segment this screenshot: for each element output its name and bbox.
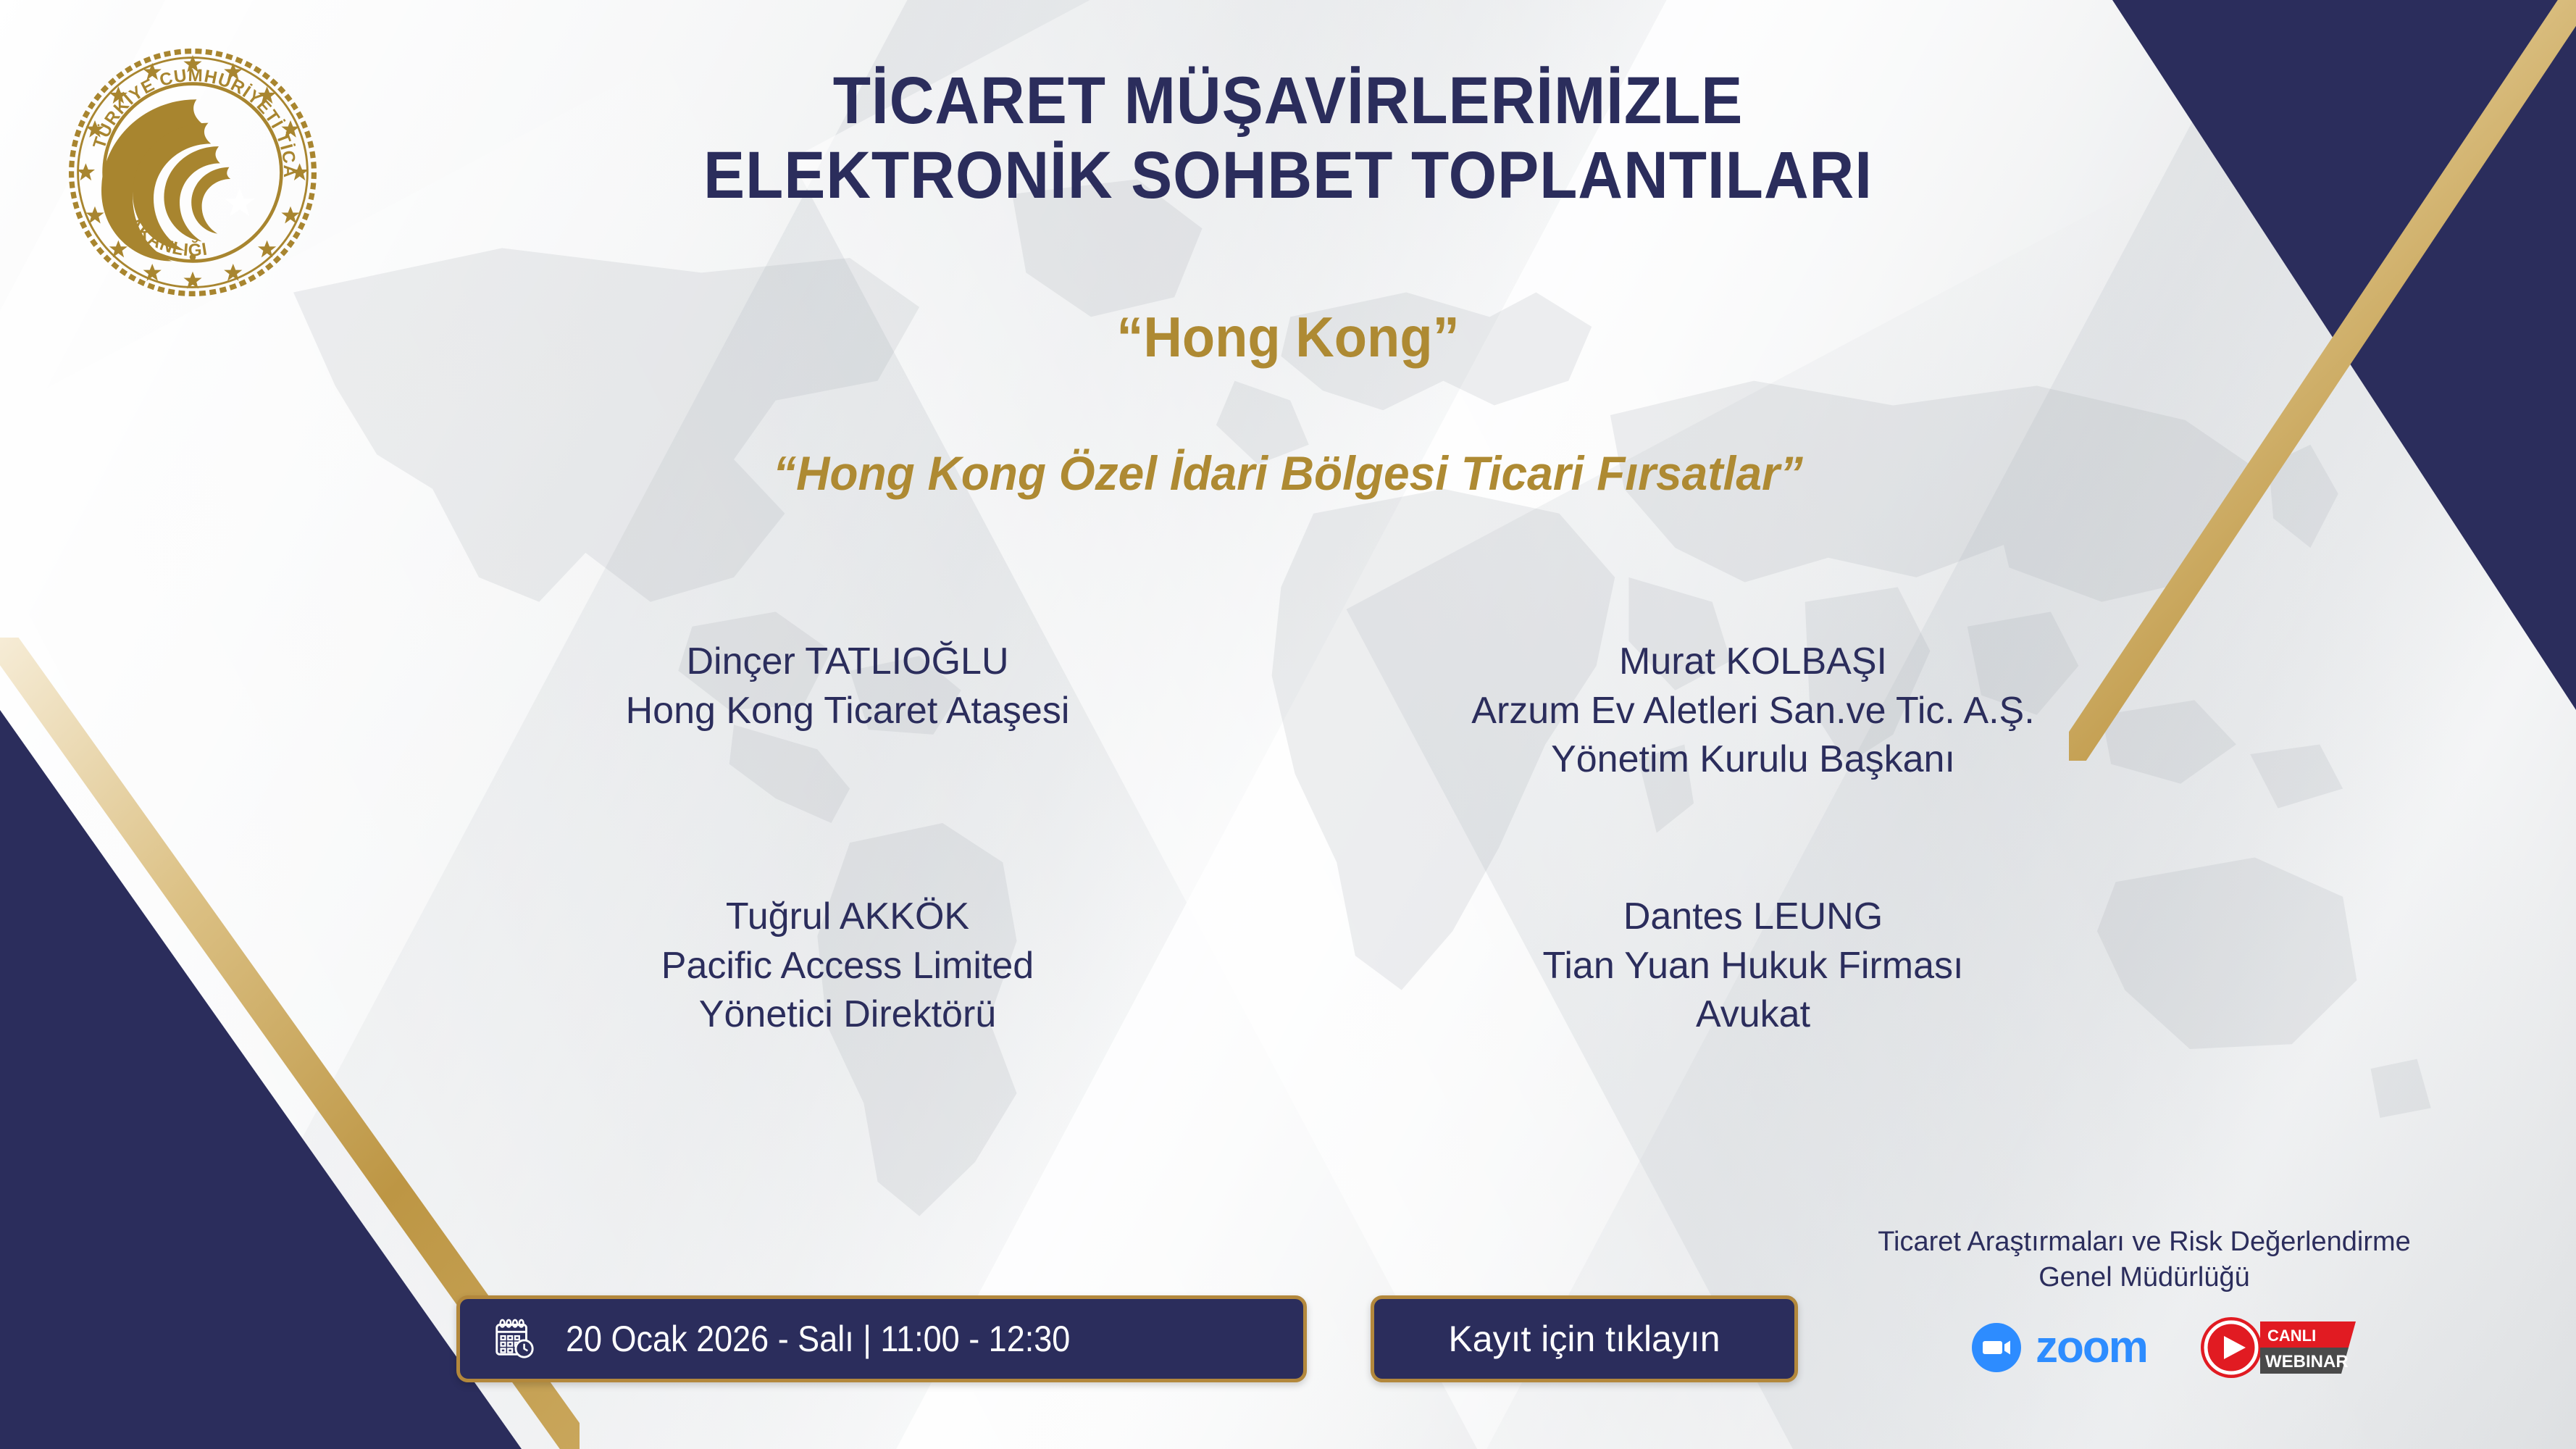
calendar-clock-icon (492, 1316, 537, 1362)
speaker-role: Avukat (1391, 990, 2115, 1040)
speaker-name: Dantes LEUNG (1391, 893, 2115, 942)
department-name: Ticaret Araştırmaları ve Risk Değerlendi… (1826, 1224, 2463, 1295)
webinar-poster: TÜRKİYE CUMHURİYETİ TİCARET BAKANLIĞI Tİ… (0, 0, 2576, 1449)
title-line-1: TİCARET MÜŞAVİRLERİMİZLE (833, 64, 1744, 138)
speaker-org: Tian Yuan Hukuk Firması (1391, 942, 2115, 991)
event-date-text: 20 Ocak 2026 - Salı | 11:00 - 12:30 (566, 1318, 1070, 1360)
department-line-2: Genel Müdürlüğü (1826, 1260, 2463, 1295)
zoom-camera-icon (1970, 1321, 2023, 1374)
speaker-org: Pacific Access Limited (522, 942, 1174, 991)
register-button-label: Kayıt için tıklayın (1448, 1318, 1720, 1360)
canli-webinar-badge: CANLI WEBINAR (2198, 1313, 2364, 1382)
speaker-org: Arzum Ev Aletleri San.ve Tic. A.Ş. (1391, 687, 2115, 736)
subtitle-topic: “Hong Kong Özel İdari Bölgesi Ticari Fır… (38, 446, 2537, 501)
register-button[interactable]: Kayıt için tıklayın (1371, 1295, 1798, 1382)
department-line-1: Ticaret Araştırmaları ve Risk Değerlendi… (1826, 1224, 2463, 1260)
zoom-wordmark: zoom (2036, 1325, 2147, 1370)
speaker-role: Yönetim Kurulu Başkanı (1391, 735, 2115, 785)
speaker-name: Dinçer TATLIOĞLU (522, 638, 1174, 687)
speaker-name: Tuğrul AKKÖK (522, 893, 1174, 942)
poster-title: TİCARET MÜŞAVİRLERİMİZLE ELEKTRONİK SOHB… (90, 64, 2485, 213)
speaker-card: Dinçer TATLIOĞLU Hong Kong Ticaret Ataşe… (522, 638, 1174, 735)
zoom-logo: zoom (1970, 1321, 2147, 1374)
svg-text:WEBINAR: WEBINAR (2265, 1352, 2349, 1371)
speaker-role: Yönetici Direktörü (522, 990, 1174, 1040)
event-date-pill: 20 Ocak 2026 - Salı | 11:00 - 12:30 (456, 1295, 1307, 1382)
title-line-2: ELEKTRONİK SOHBET TOPLANTILARI (90, 138, 2485, 213)
subtitle-country: “Hong Kong” (64, 304, 2512, 370)
speaker-card: Murat KOLBAŞI Arzum Ev Aletleri San.ve T… (1391, 638, 2115, 785)
speaker-name: Murat KOLBAŞI (1391, 638, 2115, 687)
play-circle-icon (2201, 1317, 2262, 1378)
speaker-card: Tuğrul AKKÖK Pacific Access Limited Yöne… (522, 893, 1174, 1040)
platform-logos: zoom CANLI WEBINAR (1970, 1304, 2391, 1391)
speaker-org: Hong Kong Ticaret Ataşesi (522, 687, 1174, 736)
svg-text:CANLI: CANLI (2267, 1327, 2316, 1345)
speaker-card: Dantes LEUNG Tian Yuan Hukuk Firması Avu… (1391, 893, 2115, 1040)
